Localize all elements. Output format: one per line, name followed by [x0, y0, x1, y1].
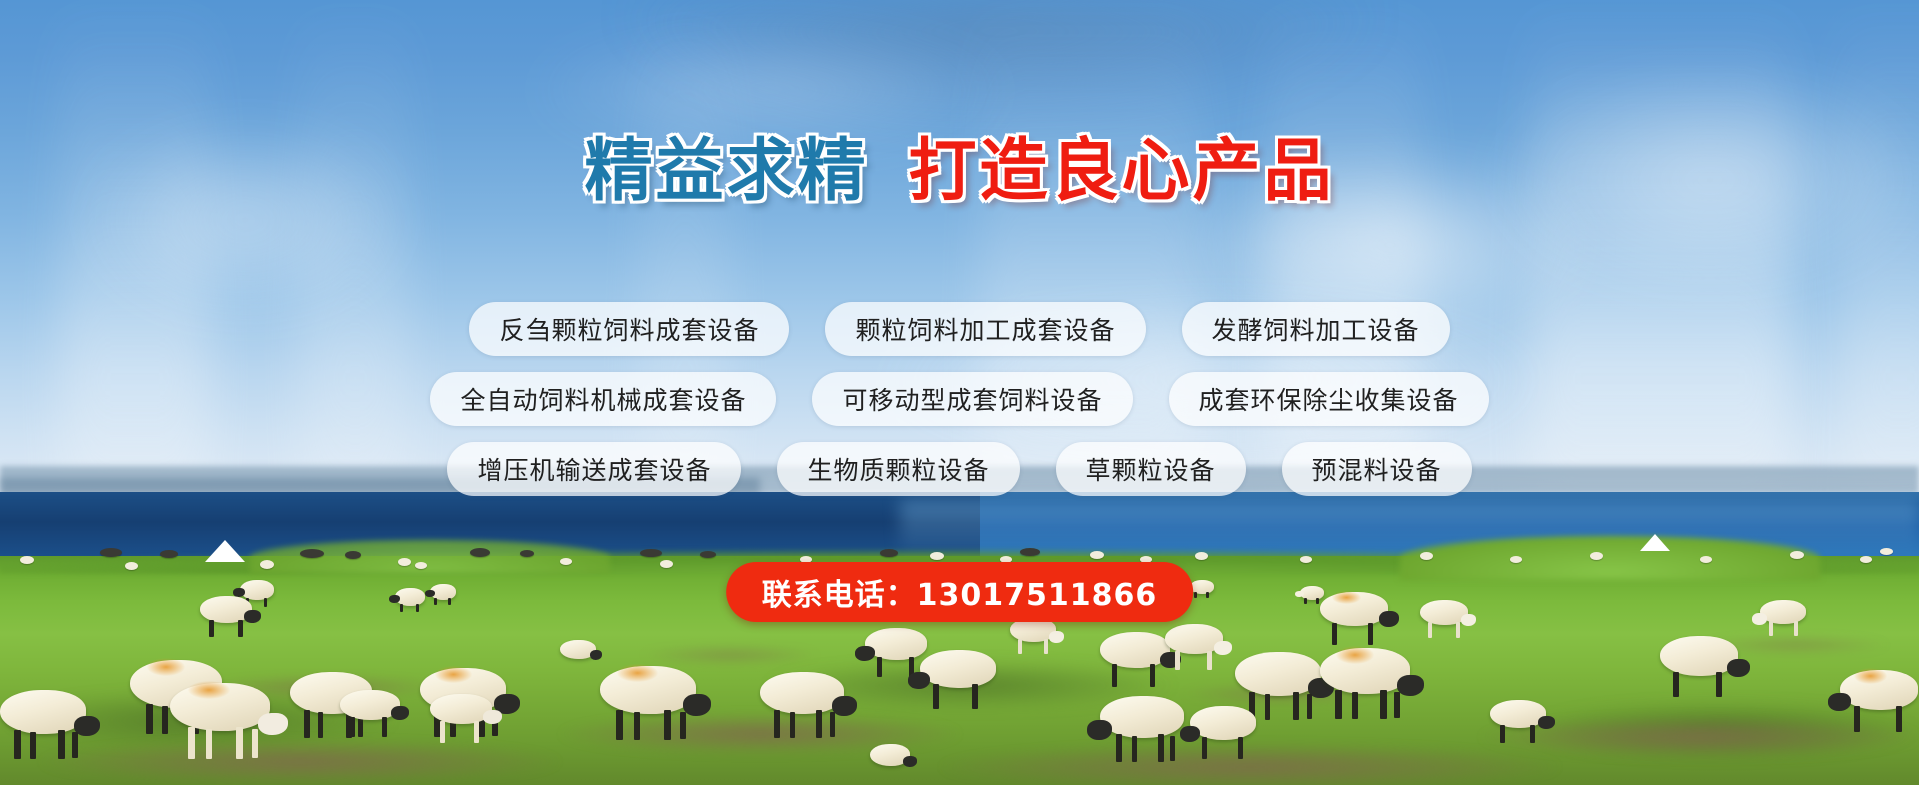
contact-phone-button[interactable]: 联系电话：13017511866 — [726, 562, 1194, 622]
category-pill-biomass-pellet[interactable]: 生物质颗粒设备 — [777, 442, 1019, 496]
category-pill-dust-collection-equipment[interactable]: 成套环保除尘收集设备 — [1169, 372, 1489, 426]
category-row-1: 反刍颗粒饲料成套设备 颗粒饲料加工成套设备 发酵饲料加工设备 — [0, 302, 1919, 356]
soil-patch — [640, 646, 820, 664]
category-pill-premix[interactable]: 预混料设备 — [1282, 442, 1472, 496]
category-pill-booster-conveying[interactable]: 增压机输送成套设备 — [447, 442, 741, 496]
category-pill-pellet-feed-processing[interactable]: 颗粒饲料加工成套设备 — [825, 302, 1145, 356]
category-row-2: 全自动饲料机械成套设备 可移动型成套饲料设备 成套环保除尘收集设备 — [0, 372, 1919, 426]
category-pill-automatic-feed-machinery[interactable]: 全自动饲料机械成套设备 — [430, 372, 776, 426]
headline-part-blue: 精益求精 — [584, 132, 868, 211]
soil-patch — [940, 744, 1560, 785]
soil-patch — [40, 740, 560, 784]
grass-mound — [1400, 536, 1820, 580]
category-pill-mobile-feed-equipment[interactable]: 可移动型成套饲料设备 — [812, 372, 1132, 426]
hero-banner: 精益求精打造良心产品 反刍颗粒饲料成套设备 颗粒饲料加工成套设备 发酵饲料加工设… — [0, 0, 1919, 785]
category-pill-groups: 反刍颗粒饲料成套设备 颗粒饲料加工成套设备 发酵饲料加工设备 全自动饲料机械成套… — [0, 302, 1919, 512]
category-pill-grass-pellet[interactable]: 草颗粒设备 — [1056, 442, 1246, 496]
category-row-3: 增压机输送成套设备 生物质颗粒设备 草颗粒设备 预混料设备 — [0, 442, 1919, 496]
page-title: 精益求精打造良心产品 — [0, 138, 1919, 206]
headline-part-red: 打造良心产品 — [909, 132, 1335, 211]
category-pill-fermented-feed-processing[interactable]: 发酵饲料加工设备 — [1182, 302, 1450, 356]
category-pill-ruminant-pellet-feed[interactable]: 反刍颗粒饲料成套设备 — [469, 302, 789, 356]
